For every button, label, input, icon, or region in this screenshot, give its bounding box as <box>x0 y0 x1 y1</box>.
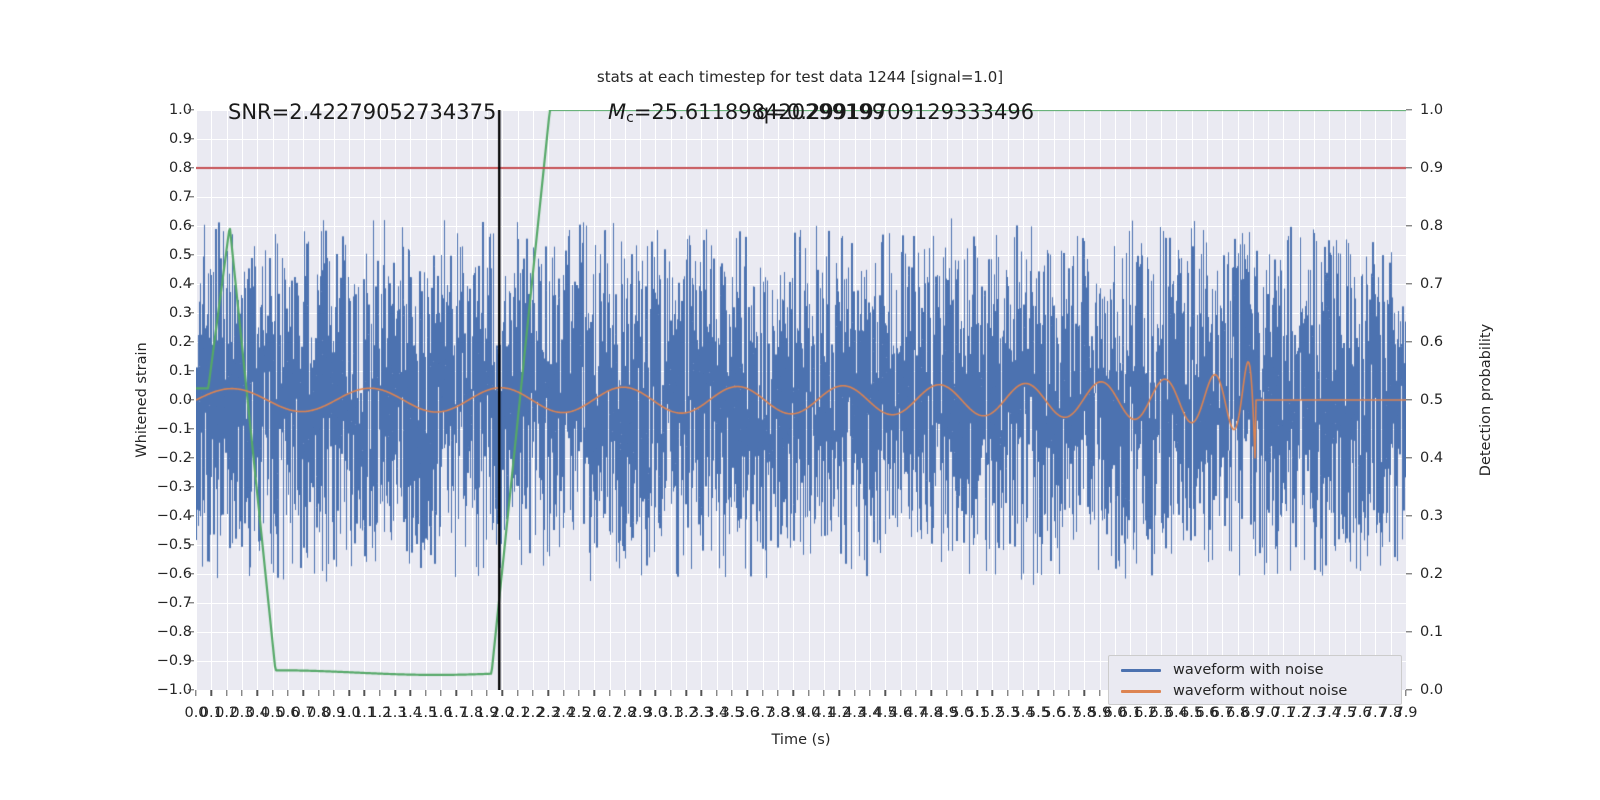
y-axis-right-tick-mark <box>1406 573 1412 574</box>
x-axis-tick-mark <box>486 690 487 696</box>
y-axis-right-tick-label: 0.0 <box>1420 682 1443 698</box>
x-axis-tick-mark <box>1022 690 1023 696</box>
legend-label: waveform without noise <box>1173 680 1347 702</box>
y-axis-right-tick-label: 0.4 <box>1420 450 1443 466</box>
x-axis-tick-mark <box>930 690 931 696</box>
y-axis-left-tick-label: −0.5 <box>157 537 192 553</box>
y-axis-right-tick-mark <box>1406 109 1412 110</box>
y-axis-left-tick-mark <box>188 486 194 487</box>
x-axis-tick-mark <box>410 690 411 696</box>
series-plot <box>196 110 1406 690</box>
y-axis-left-tick-label: −1.0 <box>157 682 192 698</box>
x-axis-tick-mark <box>471 690 472 696</box>
y-axis-left-tick-mark <box>188 312 194 313</box>
x-axis-tick-mark <box>1405 690 1406 696</box>
y-axis-left-tick-mark <box>188 109 194 110</box>
y-axis-left-tick-mark <box>188 631 194 632</box>
x-axis-tick-mark <box>502 690 503 696</box>
x-axis-tick-mark <box>594 690 595 696</box>
y-axis-left-tick-mark <box>188 138 194 139</box>
y-axis-left-tick-mark <box>188 341 194 342</box>
y-axis-right-tick-mark <box>1406 225 1412 226</box>
legend-swatch-line <box>1121 669 1161 672</box>
y-axis-right-tick-mark <box>1406 515 1412 516</box>
x-axis-tick-mark <box>639 690 640 696</box>
y-axis-right-tick-label: 0.2 <box>1420 566 1443 582</box>
x-axis-tick-mark <box>257 690 258 696</box>
y-axis-left-tick-label: −0.7 <box>157 595 192 611</box>
x-axis-tick-mark <box>624 690 625 696</box>
chart-title: stats at each timestep for test data 124… <box>0 68 1600 86</box>
y-axis-left-tick-label: −0.9 <box>157 653 192 669</box>
x-axis-tick-mark <box>609 690 610 696</box>
x-axis-label: Time (s) <box>196 732 1406 748</box>
x-axis-tick-mark <box>440 690 441 696</box>
x-axis-tick-mark <box>716 690 717 696</box>
x-axis-tick-mark <box>425 690 426 696</box>
x-axis-tick-mark <box>195 690 196 696</box>
y-axis-left-tick-mark <box>188 544 194 545</box>
x-axis-tick-mark <box>747 690 748 696</box>
x-axis-tick-mark <box>655 690 656 696</box>
x-axis-tick-mark <box>241 690 242 696</box>
y-axis-right-tick-mark <box>1406 341 1412 342</box>
y-axis-right-tick-label: 1.0 <box>1420 102 1443 118</box>
y-axis-right-tick-label: 0.9 <box>1420 160 1443 176</box>
y-axis-left-tick-label: −0.8 <box>157 624 192 640</box>
x-axis-tick-mark <box>287 690 288 696</box>
y-axis-left-tick-mark <box>188 283 194 284</box>
x-axis-tick-mark <box>1084 690 1085 696</box>
x-axis-tick-mark <box>303 690 304 696</box>
x-axis-tick-mark <box>211 690 212 696</box>
y-axis-left-tick-mark <box>188 428 194 429</box>
x-axis-tick-mark <box>731 690 732 696</box>
x-axis-tick-mark <box>777 690 778 696</box>
y-axis-right-tick-mark <box>1406 283 1412 284</box>
x-axis-tick-mark <box>348 690 349 696</box>
x-axis-tick-mark <box>670 690 671 696</box>
x-axis-tick-mark <box>992 690 993 696</box>
y-axis-left-tick-mark <box>188 254 194 255</box>
x-axis-tick-mark <box>946 690 947 696</box>
x-axis-tick-mark <box>532 690 533 696</box>
x-axis-tick-mark <box>226 690 227 696</box>
annotation-snr: SNR=2.42279052734375 <box>228 100 496 124</box>
x-axis-tick-mark <box>272 690 273 696</box>
x-axis-tick-mark <box>685 690 686 696</box>
y-axis-left-tick-mark <box>188 167 194 168</box>
y-axis-right-tick-label: 0.6 <box>1420 334 1443 350</box>
annotation-mass-ratio: q=0.29919709129333496 <box>756 100 1034 124</box>
figure-canvas: stats at each timestep for test data 124… <box>0 0 1600 800</box>
y-axis-right-tick-mark <box>1406 631 1412 632</box>
x-axis-tick-mark <box>1038 690 1039 696</box>
y-axis-left-label: Whitened strain <box>134 342 150 457</box>
annotation-chirp-mass-symbol: M <box>608 100 626 124</box>
y-axis-left-tick-mark <box>188 457 194 458</box>
x-axis-tick-mark <box>900 690 901 696</box>
x-axis-tick-label: 7.9 <box>1394 705 1417 721</box>
y-axis-left-tick-mark <box>188 602 194 603</box>
x-axis-tick-mark <box>823 690 824 696</box>
y-axis-left-tick-mark <box>188 689 194 690</box>
x-axis-tick-mark <box>1099 690 1100 696</box>
x-axis-tick-mark <box>517 690 518 696</box>
y-axis-left-tick-mark <box>188 573 194 574</box>
y-axis-right-tick-mark <box>1406 167 1412 168</box>
y-axis-right-tick-mark <box>1406 457 1412 458</box>
y-axis-right-tick-label: 0.5 <box>1420 392 1443 408</box>
y-axis-left-tick-label: −0.3 <box>157 479 192 495</box>
y-axis-left-tick-label: −0.4 <box>157 508 192 524</box>
x-axis-tick-mark <box>456 690 457 696</box>
x-axis-tick-mark <box>379 690 380 696</box>
y-axis-left-tick-mark <box>188 515 194 516</box>
y-axis-right-tick-label: 0.7 <box>1420 276 1443 292</box>
x-axis-tick-mark <box>548 690 549 696</box>
y-axis-left-tick-label: −0.1 <box>157 421 192 437</box>
x-axis-tick-mark <box>394 690 395 696</box>
y-axis-left-tick-mark <box>188 370 194 371</box>
x-axis-tick-mark <box>762 690 763 696</box>
x-axis-tick-mark <box>839 690 840 696</box>
legend-label: waveform with noise <box>1173 659 1324 681</box>
x-axis-tick-mark <box>854 690 855 696</box>
y-axis-left-tick-label: −0.2 <box>157 450 192 466</box>
y-axis-left-tick-mark <box>188 225 194 226</box>
x-axis-tick-mark <box>364 690 365 696</box>
y-axis-left-tick-label: −0.6 <box>157 566 192 582</box>
plot-area <box>196 110 1406 690</box>
x-axis-tick-mark <box>318 690 319 696</box>
x-axis-tick-mark <box>793 690 794 696</box>
y-axis-left-tick-mark <box>188 399 194 400</box>
x-axis-tick-mark <box>701 690 702 696</box>
x-axis-tick-mark <box>869 690 870 696</box>
annotation-chirp-mass-subscript: c <box>626 110 634 126</box>
x-axis-tick-mark <box>961 690 962 696</box>
y-axis-right-tick-mark <box>1406 689 1412 690</box>
y-axis-right-tick-label: 0.3 <box>1420 508 1443 524</box>
x-axis-tick-mark <box>563 690 564 696</box>
x-axis-tick-mark <box>333 690 334 696</box>
legend: waveform with noise waveform without noi… <box>1108 655 1402 705</box>
y-axis-right-label: Detection probability <box>1478 324 1494 476</box>
x-axis-tick-mark <box>885 690 886 696</box>
x-axis-tick-mark <box>808 690 809 696</box>
x-axis-tick-mark <box>915 690 916 696</box>
y-axis-left-tick-mark <box>188 660 194 661</box>
y-axis-left-tick-mark <box>188 196 194 197</box>
y-axis-right-tick-mark <box>1406 399 1412 400</box>
x-axis-tick-mark <box>1007 690 1008 696</box>
legend-swatch-line <box>1121 690 1161 693</box>
x-axis-tick-mark <box>1053 690 1054 696</box>
x-axis-tick-mark <box>1068 690 1069 696</box>
x-axis-tick-mark <box>976 690 977 696</box>
y-axis-right-tick-label: 0.8 <box>1420 218 1443 234</box>
y-axis-right-tick-label: 0.1 <box>1420 624 1443 640</box>
x-axis-tick-mark <box>578 690 579 696</box>
